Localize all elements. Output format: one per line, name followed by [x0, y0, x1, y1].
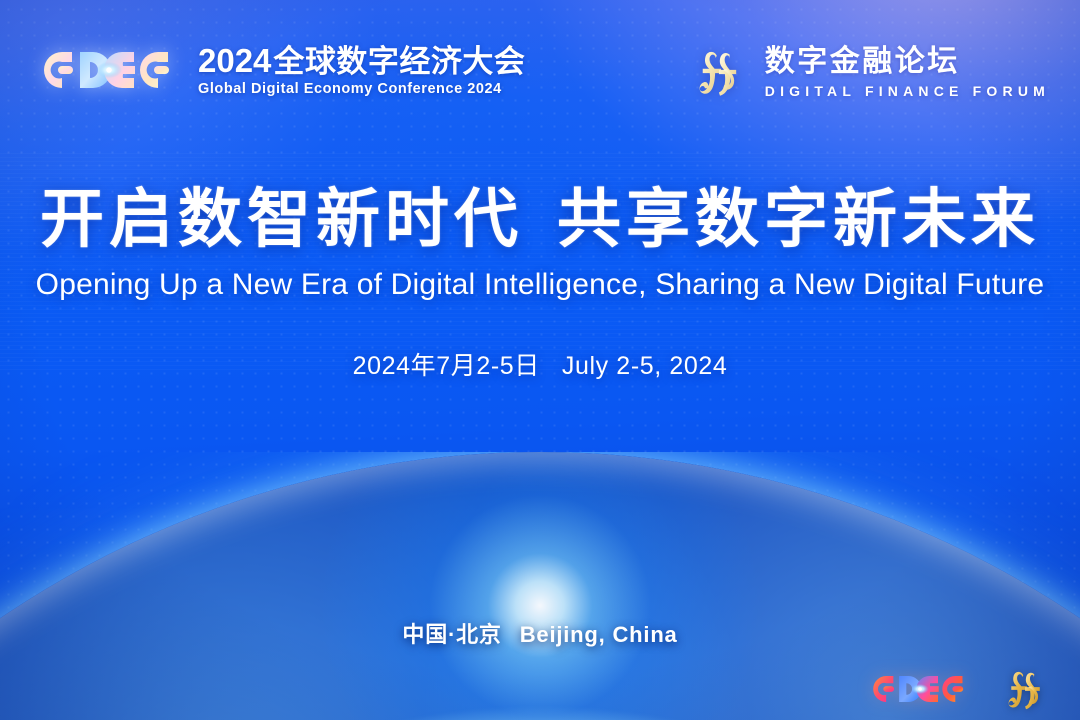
hero-title-cn-part2: 共享数字新未来 — [557, 183, 1040, 255]
conference-poster: 2024全球数字经济大会 Global Digital Economy Conf… — [0, 0, 1080, 720]
hero-block: 开启数智新时代共享数字新未来 Opening Up a New Era of D… — [0, 186, 1080, 382]
hero-title-en: Opening Up a New Era of Digital Intellig… — [0, 268, 1080, 302]
digital-finance-forum-logo-icon — [691, 45, 749, 99]
event-date-cn: 2024年7月2-5日 — [353, 352, 540, 380]
event-location: 中国·北京Beijing, China — [0, 617, 1080, 649]
conference-year: 2024 — [198, 42, 271, 79]
hero-title-cn: 开启数智新时代共享数字新未来 — [0, 186, 1080, 254]
conference-title-block: 2024全球数字经济大会 Global Digital Economy Conf… — [198, 44, 525, 97]
forum-name-en: DIGITAL FINANCE FORUM — [765, 84, 1050, 98]
forum-footer-logo-icon — [1000, 666, 1052, 712]
gdec-logo-icon — [34, 44, 184, 96]
gdec-footer-logo-icon — [866, 669, 974, 709]
conference-name-cn-text: 全球数字经济大会 — [273, 44, 525, 79]
event-location-cn: 中国·北京 — [402, 622, 501, 647]
hero-title-cn-part1: 开启数智新时代 — [40, 183, 523, 255]
forum-title-block: 数字金融论坛 DIGITAL FINANCE FORUM — [765, 47, 1050, 98]
event-location-en: Beijing, China — [520, 622, 678, 647]
event-date: 2024年7月2-5日July 2-5, 2024 — [0, 346, 1080, 382]
forum-name-cn: 数字金融论坛 — [765, 47, 1050, 77]
header-left-brand: 2024全球数字经济大会 Global Digital Economy Conf… — [34, 44, 525, 97]
event-date-en: July 2-5, 2024 — [562, 352, 727, 380]
header-right-brand: 数字金融论坛 DIGITAL FINANCE FORUM — [691, 45, 1050, 99]
conference-name-en: Global Digital Economy Conference 2024 — [198, 82, 525, 97]
footer-logo-group — [866, 666, 1052, 712]
conference-name-cn: 2024全球数字经济大会 — [198, 44, 525, 77]
